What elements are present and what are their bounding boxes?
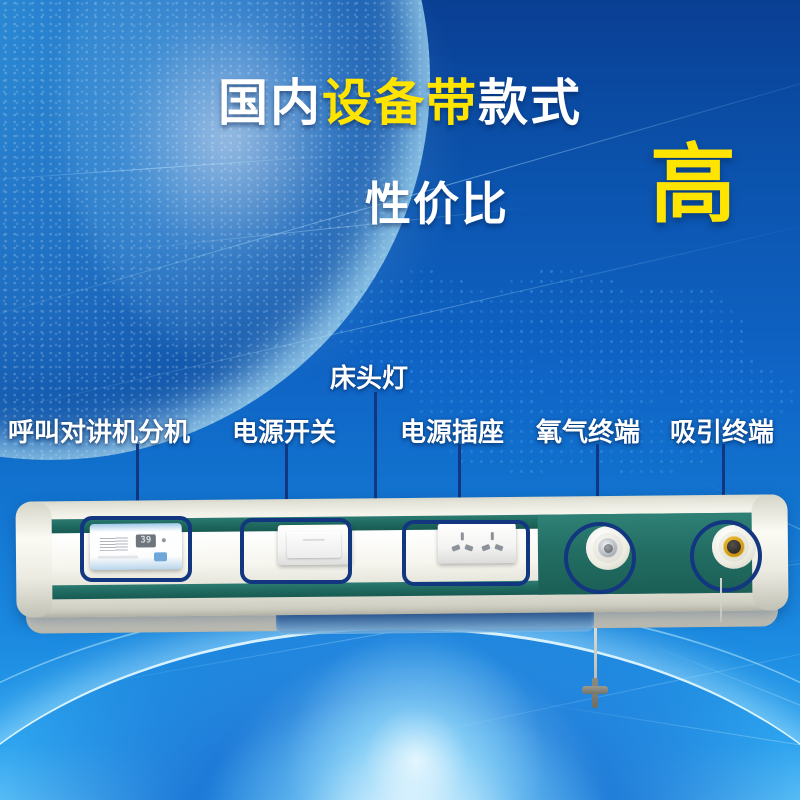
highlight-circle-oxygen (564, 522, 636, 594)
callout-label-power-socket: 电源插座 (400, 412, 504, 449)
callout-label-intercom: 呼叫对讲机分机 (8, 412, 190, 449)
highlight-box-power-switch (240, 518, 352, 584)
secondary-cord (720, 578, 722, 622)
panel-end-cap-left (15, 501, 52, 617)
highlight-circle-suction (690, 520, 762, 592)
highlight-box-power-socket (402, 520, 530, 586)
horizon-glow (200, 640, 620, 800)
callout-label-power-switch: 电源开关 (232, 412, 336, 449)
highlight-box-intercom (80, 516, 192, 582)
pull-cord-handle[interactable] (582, 678, 608, 708)
callout-label-oxygen: 氧气终端 (536, 412, 640, 449)
product-promo-image: 国内设备带款式 性价比 高 呼叫对讲机分机 电源开关 床头灯 电源插座 氧气终端… (0, 0, 800, 800)
handle-horizontal-bar (582, 686, 608, 694)
callout-label-bed-lamp: 床头灯 (330, 358, 408, 395)
